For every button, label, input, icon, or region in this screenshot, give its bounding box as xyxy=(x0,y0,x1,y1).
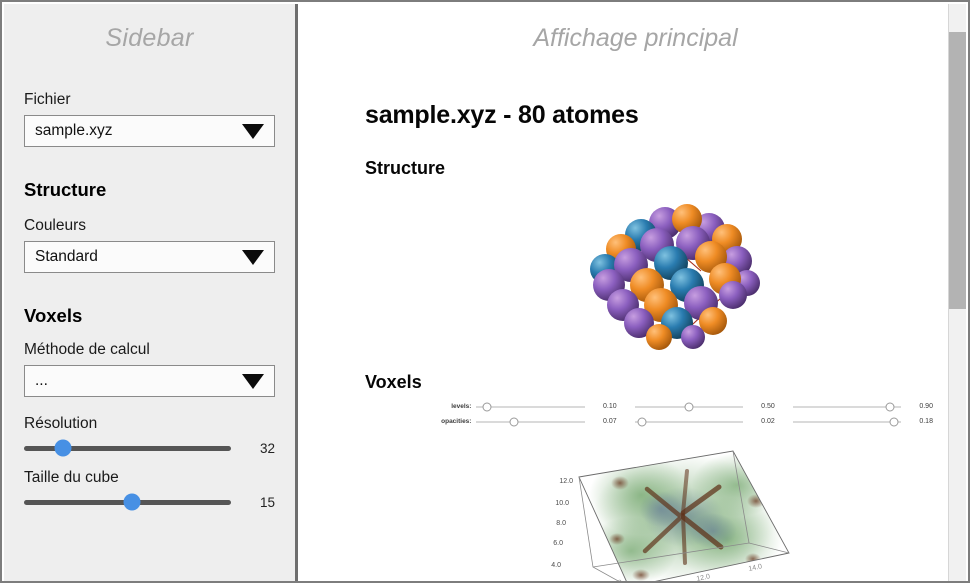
resolution-slider[interactable]: 32 xyxy=(24,439,275,457)
vertical-scrollbar[interactable] xyxy=(948,4,966,581)
opacities-label: opacities: xyxy=(431,418,476,425)
slider-knob[interactable] xyxy=(684,402,693,411)
method-label: Méthode de calcul xyxy=(24,341,275,359)
application-window: Sidebar Fichier sample.xyz Structure Cou… xyxy=(0,0,970,583)
svg-text:14.0: 14.0 xyxy=(748,563,763,573)
svg-text:6.0: 6.0 xyxy=(553,540,563,547)
molecule-3d-render[interactable] xyxy=(561,187,761,357)
voxel-slider-matrix: levels: 0.10 0.50 0.90 opacities: xyxy=(431,399,951,429)
file-dropdown-value: sample.xyz xyxy=(35,122,236,140)
levels-value-3: 0.90 xyxy=(901,403,951,410)
resolution-slider-group: Résolution 32 xyxy=(24,415,275,457)
voxel-plot-figure: 12.0 10.0 8.0 6.0 4.0 10.0 12.0 14.0 xyxy=(301,435,970,581)
voxel-3d-plot[interactable]: 12.0 10.0 8.0 6.0 4.0 10.0 12.0 14.0 xyxy=(521,435,811,581)
colors-dropdown[interactable]: Standard xyxy=(24,241,275,273)
structure-section-heading: Structure xyxy=(365,158,970,179)
svg-text:8.0: 8.0 xyxy=(556,520,566,527)
sidebar-section-voxels: Voxels xyxy=(24,305,275,327)
main-panel-title: Affichage principal xyxy=(301,24,970,53)
structure-figure xyxy=(301,187,970,372)
slider-knob[interactable] xyxy=(510,417,519,426)
svg-text:4.0: 4.0 xyxy=(551,562,561,569)
cubesize-value: 15 xyxy=(241,495,275,510)
chevron-down-icon xyxy=(242,374,264,389)
resolution-slider-knob[interactable] xyxy=(55,440,72,457)
slider-knob[interactable] xyxy=(483,402,492,411)
svg-text:10.0: 10.0 xyxy=(555,500,569,507)
resolution-value: 32 xyxy=(241,441,275,456)
colors-dropdown-value: Standard xyxy=(35,248,236,266)
levels-value-2: 0.50 xyxy=(743,403,793,410)
chevron-down-icon xyxy=(242,124,264,139)
resolution-slider-track[interactable] xyxy=(24,446,231,451)
levels-slider-2[interactable] xyxy=(635,401,744,413)
opacities-slider-2[interactable] xyxy=(635,416,744,428)
opacities-value-3: 0.18 xyxy=(901,418,951,425)
svg-text:12.0: 12.0 xyxy=(559,478,573,485)
file-label: Fichier xyxy=(24,91,275,109)
cubesize-slider[interactable]: 15 xyxy=(24,493,275,511)
opacities-slider-1[interactable] xyxy=(476,416,585,428)
sidebar-panel: Sidebar Fichier sample.xyz Structure Cou… xyxy=(4,4,298,581)
levels-label: levels: xyxy=(431,403,476,410)
voxels-section-heading: Voxels xyxy=(365,372,970,393)
opacities-value-2: 0.02 xyxy=(743,418,793,425)
levels-slider-row: levels: 0.10 0.50 0.90 xyxy=(431,399,951,414)
sidebar-title: Sidebar xyxy=(4,24,295,53)
opacities-value-1: 0.07 xyxy=(585,418,635,425)
chevron-down-icon xyxy=(242,250,264,265)
colors-field-group: Couleurs Standard xyxy=(24,217,275,273)
scrollbar-thumb[interactable] xyxy=(949,32,966,309)
cubesize-label: Taille du cube xyxy=(24,469,275,487)
method-field-group: Méthode de calcul ... xyxy=(24,341,275,397)
main-display-panel: Affichage principal sample.xyz - 80 atom… xyxy=(301,4,970,581)
page-title: sample.xyz - 80 atomes xyxy=(365,101,970,130)
cubesize-slider-knob[interactable] xyxy=(123,494,140,511)
opacities-slider-row: opacities: 0.07 0.02 0.18 xyxy=(431,414,951,429)
sidebar-section-structure: Structure xyxy=(24,179,275,201)
slider-track xyxy=(635,421,744,422)
file-field-group: Fichier sample.xyz xyxy=(24,91,275,147)
colors-label: Couleurs xyxy=(24,217,275,235)
slider-knob[interactable] xyxy=(638,417,647,426)
levels-slider-1[interactable] xyxy=(476,401,585,413)
slider-track xyxy=(476,406,585,407)
cubesize-slider-track[interactable] xyxy=(24,500,231,505)
method-dropdown-value: ... xyxy=(35,372,236,390)
slider-track xyxy=(476,421,585,422)
cubesize-slider-group: Taille du cube 15 xyxy=(24,469,275,511)
levels-value-1: 0.10 xyxy=(585,403,635,410)
method-dropdown[interactable]: ... xyxy=(24,365,275,397)
slider-knob[interactable] xyxy=(889,417,898,426)
slider-knob[interactable] xyxy=(886,402,895,411)
opacities-slider-3[interactable] xyxy=(793,416,902,428)
svg-text:12.0: 12.0 xyxy=(696,573,711,581)
slider-track xyxy=(793,421,902,422)
resolution-label: Résolution xyxy=(24,415,275,433)
levels-slider-3[interactable] xyxy=(793,401,902,413)
file-dropdown[interactable]: sample.xyz xyxy=(24,115,275,147)
